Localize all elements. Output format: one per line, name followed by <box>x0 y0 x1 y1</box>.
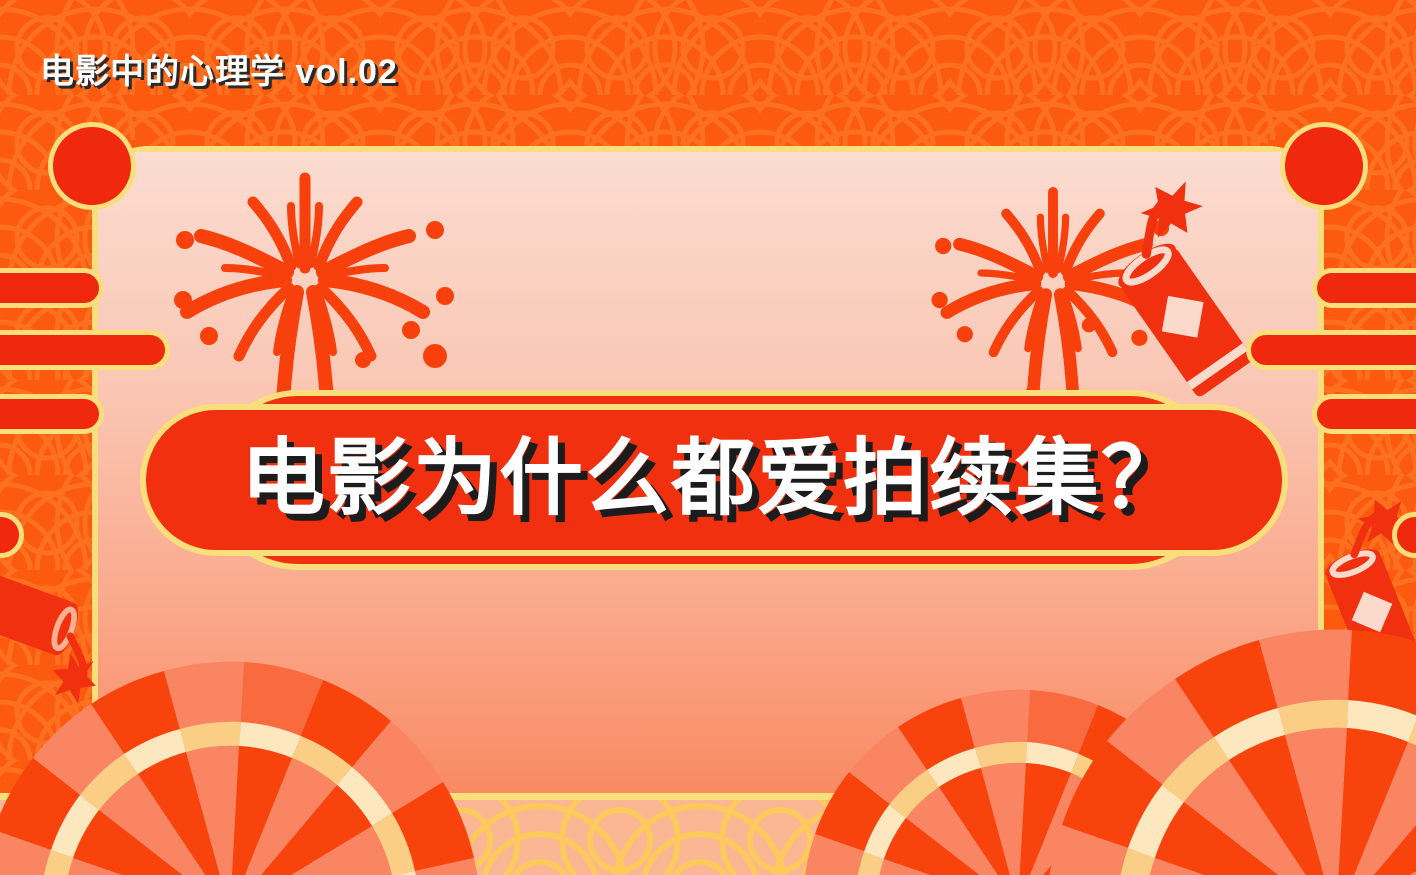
cloud-bar-left-lower <box>0 394 104 434</box>
bottom-strip <box>0 793 1416 875</box>
series-label: 电影中的心理学 vol.02 <box>40 44 398 93</box>
cloud-bar-right-lower <box>1312 394 1416 434</box>
bottom-strip-pattern <box>0 800 1416 875</box>
cloud-bar-right-upper <box>1312 268 1416 308</box>
title-card-canvas: 电影中的心理学 vol.02 <box>0 0 1416 875</box>
ring-circle-top-left <box>48 122 136 210</box>
cloud-bar-left-mid <box>0 330 170 370</box>
cloud-bar-right-mid <box>1246 330 1416 370</box>
title-banner: 电影为什么都爱拍续集？ <box>140 404 1288 556</box>
main-title: 电影为什么都爱拍续集？ <box>140 402 1288 554</box>
ring-circle-top-right <box>1280 122 1368 210</box>
cloud-bar-left-upper <box>0 268 104 308</box>
